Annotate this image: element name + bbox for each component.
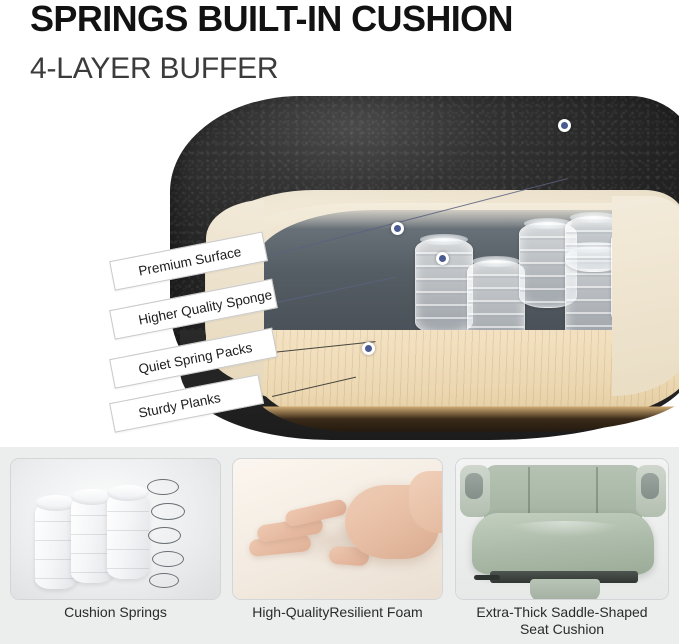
feature-panels xyxy=(0,458,679,600)
marker-dot-higher-quality-sponge[interactable] xyxy=(391,222,404,235)
seat-contour-highlight xyxy=(506,521,624,537)
header: SPRINGS BUILT-IN CUSHION 4-LAYER BUFFER xyxy=(0,0,679,100)
chair-side-bolster-right xyxy=(636,465,666,517)
callout-label-text: Sturdy Planks xyxy=(137,390,222,421)
pocketed-spring-top xyxy=(107,485,149,501)
bolster-pad xyxy=(641,473,659,499)
page-title: SPRINGS BUILT-IN CUSHION xyxy=(30,0,513,40)
page-subtitle: 4-LAYER BUFFER xyxy=(30,52,278,86)
coil-wire-loop xyxy=(152,551,184,567)
feature-panel-cushion-springs[interactable] xyxy=(10,458,221,600)
cream-foam-right-wall xyxy=(612,196,679,396)
infographic-page: SPRINGS BUILT-IN CUSHION 4-LAYER BUFFER xyxy=(0,0,679,644)
coil-wire-loop xyxy=(151,503,185,520)
feature-caption-seat-cushion: Extra-Thick Saddle-Shaped Seat Cushion xyxy=(455,604,669,638)
feature-strip: Cushion Springs High-QualityResilient Fo… xyxy=(0,447,679,644)
bolster-pad xyxy=(465,473,483,499)
coil-wire-loop xyxy=(148,527,181,544)
feature-panel-seat-cushion[interactable] xyxy=(455,458,669,600)
pocketed-spring xyxy=(107,493,149,579)
marker-dot-sturdy-planks[interactable] xyxy=(362,342,375,355)
marker-dot-premium-surface[interactable] xyxy=(558,119,571,132)
height-adjust-lever[interactable] xyxy=(474,575,500,580)
chair-seat-cushion xyxy=(472,513,654,575)
coil-wire-loop xyxy=(149,573,179,588)
chair-side-bolster-left xyxy=(460,465,490,517)
feature-caption-cushion-springs: Cushion Springs xyxy=(10,604,221,621)
feature-caption-resilient-foam: High-QualityResilient Foam xyxy=(232,604,443,621)
marker-dot-quiet-spring-packs[interactable] xyxy=(436,252,449,265)
feature-panel-resilient-foam[interactable] xyxy=(232,458,443,600)
seat-base-plate xyxy=(530,579,600,600)
coil-wire-loop xyxy=(147,479,179,495)
